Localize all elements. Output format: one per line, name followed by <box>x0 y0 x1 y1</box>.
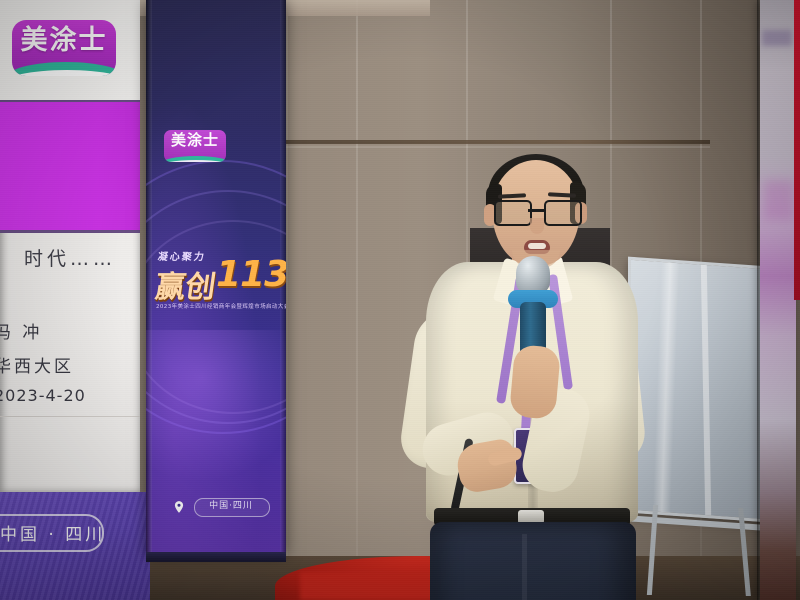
speaker-person <box>400 150 660 600</box>
slide-divider <box>0 416 140 417</box>
banner-location-label: 中国·四川 <box>194 500 268 513</box>
slide-date: 2023-4-20 <box>0 386 86 405</box>
column-reflection <box>762 30 792 46</box>
banner-brand-logo: 美涂士 <box>164 130 226 162</box>
whiteboard-glare <box>701 265 711 516</box>
banner-brand-logo-text: 美涂士 <box>164 130 226 151</box>
speaker-teeth <box>528 243 546 249</box>
projection-slide: 美涂士 时代…… 冯 冲 华西大区 2023-4-20 <box>0 0 140 492</box>
trouser-crease <box>522 534 527 600</box>
banner-headline-number: 1135 <box>216 254 286 295</box>
glasses-lens <box>544 200 582 226</box>
banner-base-stand <box>146 552 286 562</box>
brand-logo-text: 美涂士 <box>12 24 116 58</box>
rollup-banner: 美涂士 凝心聚力 赢创 1135 2023年美涂士四川经销商年会暨辉煌市场启动大… <box>146 0 286 556</box>
red-wall-strip <box>794 0 800 300</box>
photo-scene: 美涂士 时代…… 冯 冲 华西大区 2023-4-20 中国 · 四川 美涂士 … <box>0 0 800 600</box>
banner-headline-word: 赢创 <box>153 262 219 306</box>
location-pin-icon <box>172 500 186 514</box>
speaker-trousers <box>430 522 636 600</box>
column-reflection <box>764 180 794 220</box>
slide-location-label: 中国 · 四川 <box>0 520 84 545</box>
banner-glow <box>146 330 286 490</box>
banner-logo-wave-white <box>164 160 226 162</box>
glasses-bridge <box>528 209 544 212</box>
slide-band-bottom-edge <box>0 230 140 233</box>
glasses-lens <box>494 200 532 226</box>
wall-seam <box>356 0 358 600</box>
wall-trim-highlight <box>270 146 710 148</box>
speaker-nose <box>530 218 544 234</box>
wall-trim-line <box>270 140 710 144</box>
slide-magenta-band <box>0 102 140 232</box>
slide-era-text: 时代…… <box>0 244 140 271</box>
mirror-column <box>760 0 796 600</box>
microphone-head <box>516 256 550 294</box>
wall-seam <box>286 0 288 600</box>
speaker-left-hand <box>509 344 561 420</box>
slide-presenter-name: 冯 冲 <box>0 318 42 343</box>
slide-region: 华西大区 <box>0 352 74 377</box>
banner-subtitle: 2023年美涂士四川经销商年会暨辉煌市场启动大会 <box>156 302 278 310</box>
banner-headline-group: 赢创 1135 <box>154 258 286 300</box>
slide-lower-purple-panel: 中国 · 四川 <box>0 492 150 600</box>
brand-logo: 美涂士 <box>12 20 116 76</box>
